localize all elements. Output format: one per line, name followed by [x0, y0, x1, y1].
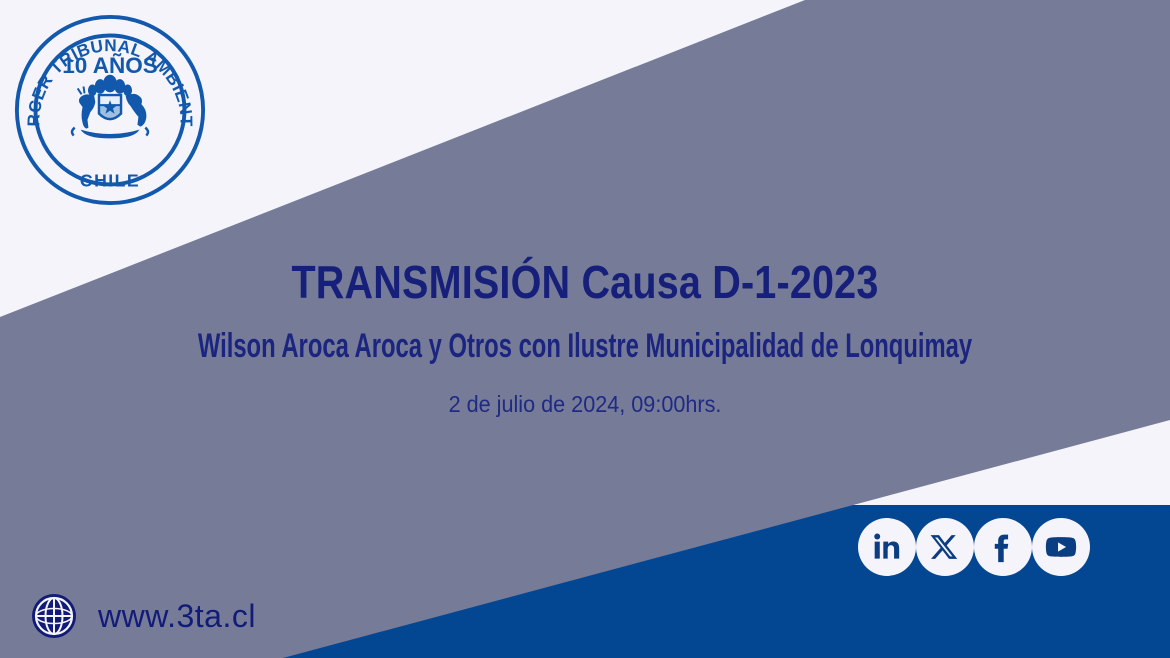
institution-logo: TERCER TRIBUNAL AMBIENTAL 10 AÑOS: [12, 12, 208, 208]
facebook-icon: [986, 530, 1020, 564]
coat-of-arms: [72, 75, 148, 139]
case-parties-subtitle: Wilson Aroca Aroca y Otros con Ilustre M…: [176, 328, 995, 365]
x-twitter-icon: [930, 532, 960, 562]
seal-icon: TERCER TRIBUNAL AMBIENTAL 10 AÑOS: [12, 12, 208, 208]
x-twitter-button[interactable]: [916, 518, 974, 576]
website-footer[interactable]: www.3ta.cl: [30, 592, 256, 640]
seal-anniversary-text: 10 AÑOS: [62, 53, 158, 78]
social-links: [858, 518, 1090, 576]
broadcast-title-slide: TERCER TRIBUNAL AMBIENTAL 10 AÑOS: [0, 0, 1170, 658]
youtube-icon: [1044, 530, 1078, 564]
website-url[interactable]: www.3ta.cl: [98, 600, 256, 632]
seal-bottom-text: CHILE: [80, 170, 140, 190]
globe-icon: [30, 592, 78, 640]
page-title: TRANSMISIÓN Causa D-1-2023: [82, 258, 1088, 306]
youtube-button[interactable]: [1032, 518, 1090, 576]
linkedin-icon: [870, 530, 904, 564]
linkedin-button[interactable]: [858, 518, 916, 576]
facebook-button[interactable]: [974, 518, 1032, 576]
hearing-datetime: 2 de julio de 2024, 09:00hrs.: [35, 392, 1135, 417]
slide-text-block: TRANSMISIÓN Causa D-1-2023 Wilson Aroca …: [0, 258, 1170, 417]
